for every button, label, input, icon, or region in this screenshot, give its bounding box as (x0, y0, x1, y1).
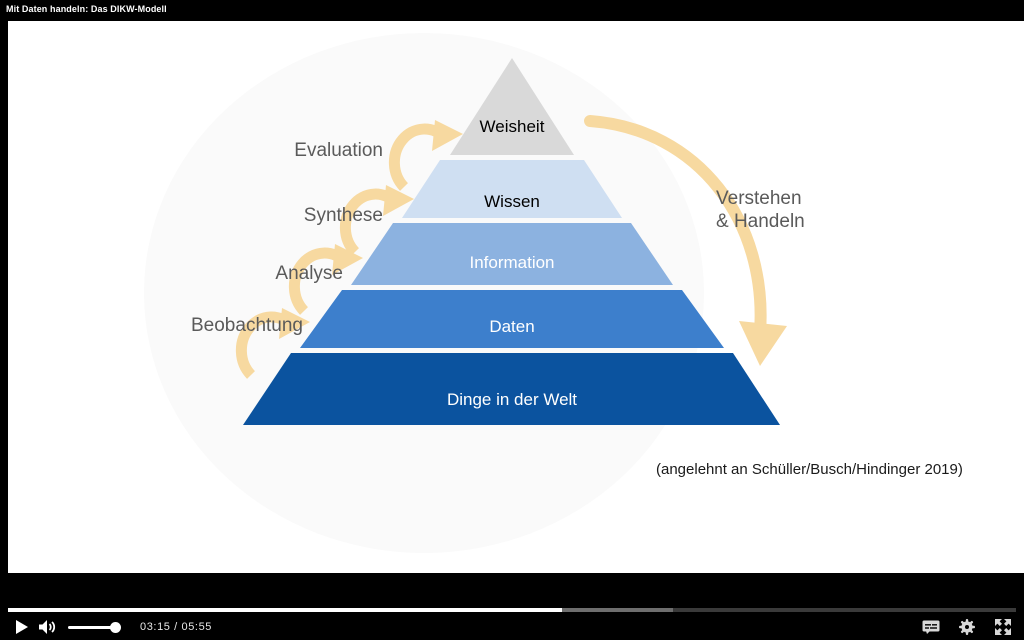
tier-label-wissen: Wissen (412, 192, 612, 212)
play-button[interactable] (10, 616, 32, 638)
step-label-analyse: Analyse (88, 263, 343, 285)
pyramid-tier-weisheit (450, 58, 574, 155)
verstehen-handeln-arrowhead (739, 321, 787, 366)
player-control-bar: 03:15 / 05:55 (0, 601, 1024, 640)
time-display: 03:15 / 05:55 (140, 621, 212, 633)
tier-label-weisheit: Weisheit (412, 117, 612, 137)
step-label-evaluation: Evaluation (168, 140, 383, 162)
pyramid-tier-dinge (243, 353, 780, 425)
tier-label-daten: Daten (412, 317, 612, 337)
step-label-synthese: Synthese (128, 205, 383, 227)
gear-icon (959, 619, 975, 635)
side-note-line-1: Verstehen (716, 187, 805, 210)
settings-button[interactable] (956, 616, 978, 638)
window-title: Mit Daten handeln: Das DIKW-Modell (0, 4, 167, 14)
volume-icon (38, 619, 56, 635)
fullscreen-button[interactable] (992, 616, 1014, 638)
volume-slider-knob[interactable] (110, 622, 121, 633)
volume-slider[interactable] (68, 617, 124, 637)
seek-bar[interactable] (8, 608, 1016, 612)
mute-button[interactable] (36, 616, 58, 638)
volume-slider-track (68, 626, 116, 629)
subtitles-button[interactable] (920, 616, 942, 638)
play-icon (15, 620, 28, 634)
tier-label-information: Information (412, 253, 612, 273)
side-note-verstehen-handeln: Verstehen & Handeln (716, 187, 805, 233)
subtitles-icon (922, 620, 940, 634)
tier-label-dinge-in-der-welt: Dinge in der Welt (384, 390, 640, 410)
step-label-beobachtung: Beobachtung (48, 315, 303, 337)
video-player-window: Mit Daten handeln: Das DIKW-Modell (0, 0, 1024, 640)
dikw-pyramid-graphic (8, 21, 1024, 573)
window-titlebar: Mit Daten handeln: Das DIKW-Modell (0, 0, 1024, 18)
slide-canvas: Weisheit Wissen Information Daten Dinge … (8, 21, 1024, 573)
seek-bar-progress (8, 608, 562, 612)
control-row: 03:15 / 05:55 (0, 615, 1024, 639)
control-row-left: 03:15 / 05:55 (10, 615, 212, 639)
side-note-line-2: & Handeln (716, 210, 805, 233)
fullscreen-icon (995, 619, 1011, 635)
control-row-right (906, 615, 1014, 639)
source-citation: (angelehnt an Schüller/Busch/Hindinger 2… (656, 461, 963, 478)
